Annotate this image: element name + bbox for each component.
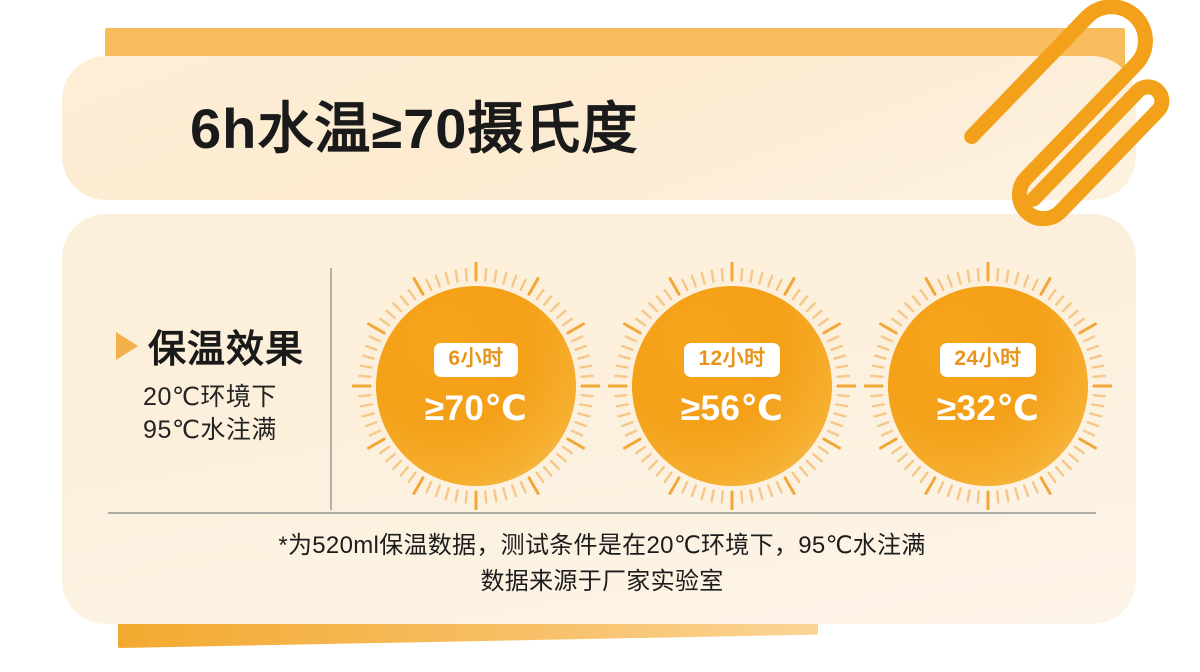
insulation-title: 保温效果 — [148, 318, 304, 373]
page-title: 6h水温≥70摄氏度 — [190, 94, 638, 164]
temperature-value: ≥56℃ — [681, 389, 784, 429]
poster-canvas: 6h水温≥70摄氏度 保温效果 20℃环境下 95℃水注满 6小时 ≥70℃ 1… — [0, 0, 1200, 672]
insulation-label-block: 保温效果 20℃环境下 95℃水注满 — [96, 318, 324, 447]
triangle-right-icon — [116, 332, 138, 360]
hours-badge: 6小时 — [434, 343, 517, 377]
metric-disc: 24小时 ≥32℃ — [888, 286, 1088, 486]
vertical-divider — [330, 268, 332, 510]
footnote-line-2: 数据来源于厂家实验室 — [108, 564, 1096, 600]
horizontal-divider — [108, 512, 1096, 514]
insulation-title-row: 保温效果 — [96, 318, 324, 373]
temperature-value: ≥70℃ — [425, 389, 528, 429]
metric-disc: 12小时 ≥56℃ — [632, 286, 832, 486]
metric-card-0: 6小时 ≥70℃ — [352, 262, 600, 510]
metric-card-1: 12小时 ≥56℃ — [608, 262, 856, 510]
footnote-line-1: *为520ml保温数据，测试条件是在20℃环境下，95℃水注满 — [108, 528, 1096, 564]
insulation-conditions: 20℃环境下 95℃水注满 — [96, 381, 324, 447]
metric-disc: 6小时 ≥70℃ — [376, 286, 576, 486]
hours-badge: 12小时 — [684, 343, 779, 377]
footnote: *为520ml保温数据，测试条件是在20℃环境下，95℃水注满 数据来源于厂家实… — [108, 528, 1096, 600]
temperature-value: ≥32℃ — [937, 389, 1040, 429]
condition-fill: 95℃水注满 — [96, 414, 324, 447]
condition-ambient: 20℃环境下 — [96, 381, 324, 414]
metrics-row: 6小时 ≥70℃ 12小时 ≥56℃ 24小时 ≥32℃ — [352, 262, 1112, 510]
hours-badge: 24小时 — [940, 343, 1035, 377]
metric-card-2: 24小时 ≥32℃ — [864, 262, 1112, 510]
